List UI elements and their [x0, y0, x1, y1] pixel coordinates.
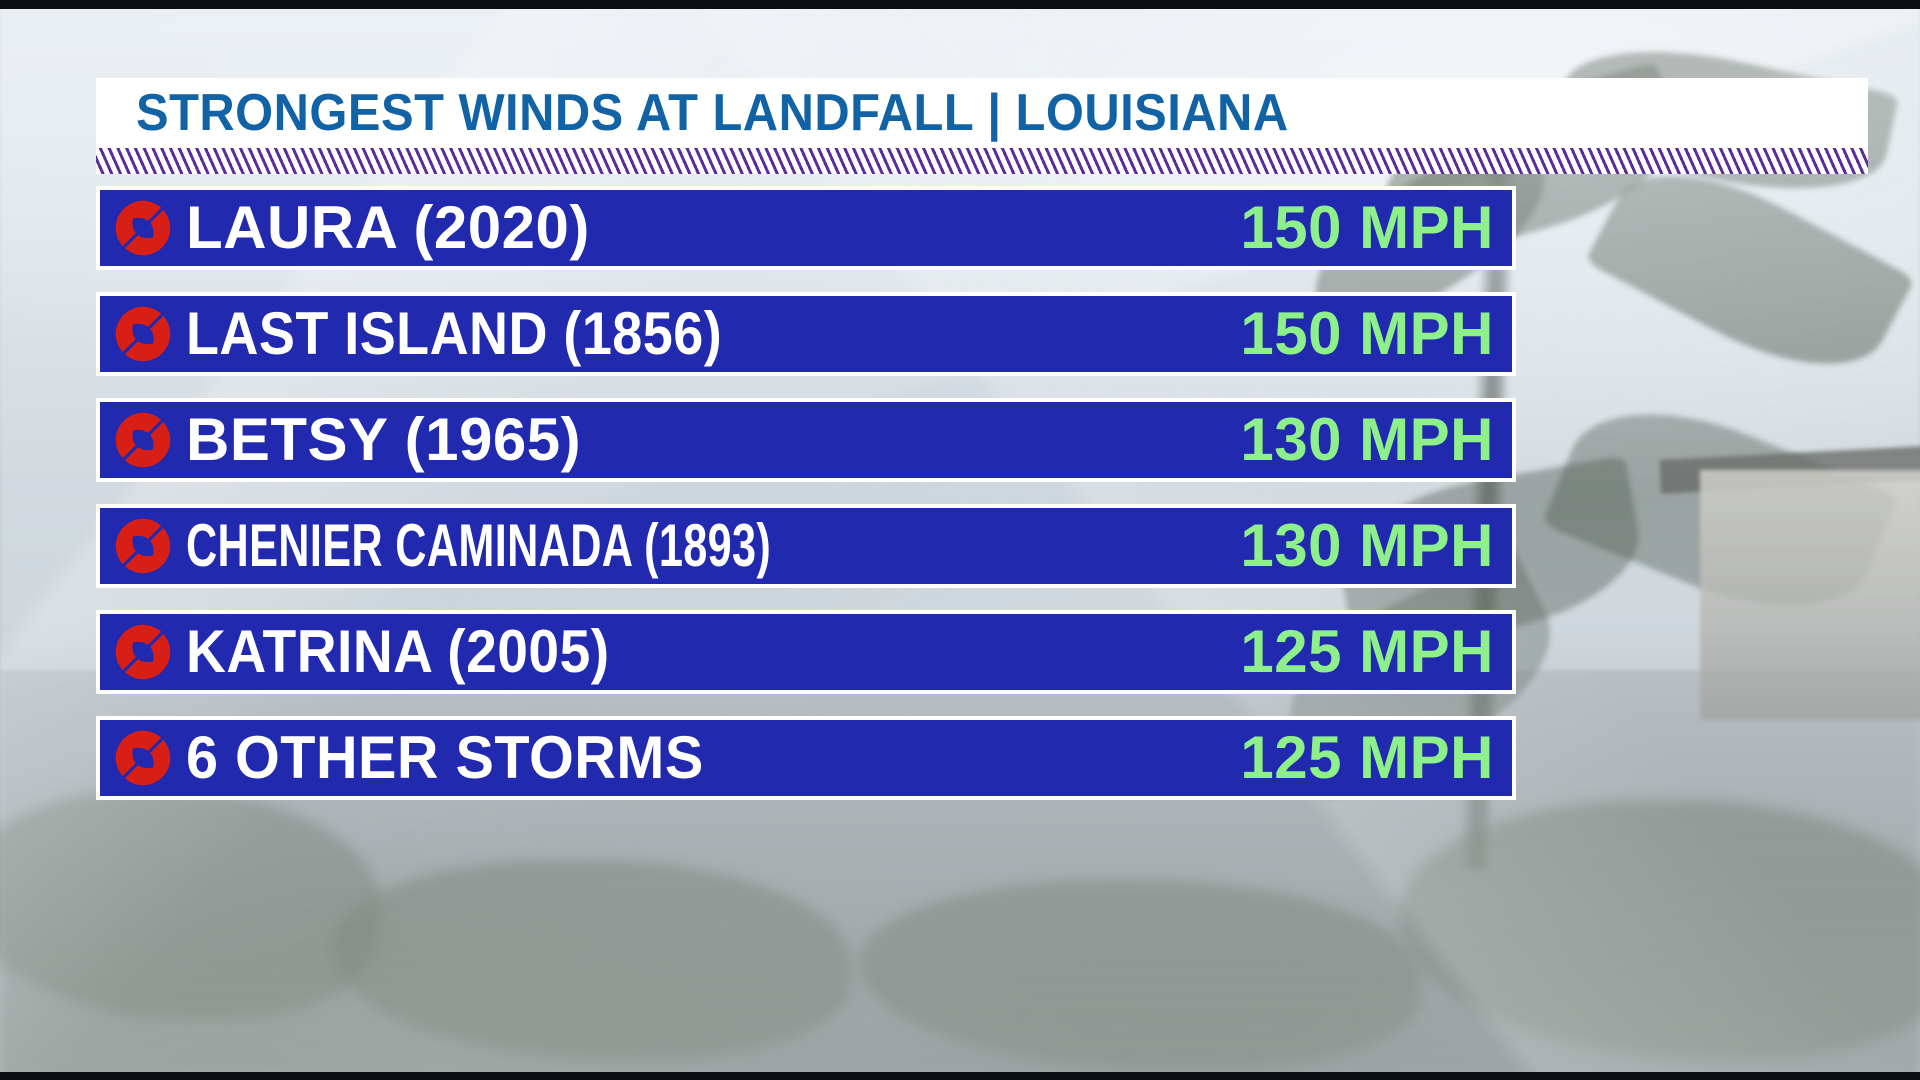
- hurricane-icon: [100, 292, 186, 376]
- wind-speed-value: 150 MPH: [1240, 198, 1512, 258]
- storm-name: KATRINA (2005): [186, 622, 1156, 682]
- storm-name: LAURA (2020): [186, 198, 1240, 258]
- hatch-divider: [96, 148, 1868, 174]
- storm-name: 6 OTHER STORMS: [186, 728, 1198, 788]
- weather-graphic: STRONGEST WINDS AT LANDFALL | LOUISIANA …: [0, 0, 1920, 1080]
- title-bar: STRONGEST WINDS AT LANDFALL | LOUISIANA: [96, 78, 1868, 148]
- wind-speed-value: 130 MPH: [1240, 516, 1512, 576]
- wind-speed-value: 125 MPH: [1240, 728, 1512, 788]
- list-item[interactable]: LAST ISLAND (1856) 150 MPH: [96, 292, 1516, 376]
- page-title: STRONGEST WINDS AT LANDFALL | LOUISIANA: [136, 87, 1289, 139]
- wind-speed-value: 130 MPH: [1240, 410, 1512, 470]
- wind-speed-value: 150 MPH: [1240, 304, 1512, 364]
- list-item[interactable]: CHENIER CAMINADA (1893) 130 MPH: [96, 504, 1516, 588]
- hurricane-icon: [100, 610, 186, 694]
- letterbox-top: [0, 0, 1920, 9]
- hurricane-icon: [100, 186, 186, 270]
- storm-name: BETSY (1965): [186, 410, 1240, 470]
- hurricane-icon: [100, 398, 186, 482]
- list-item[interactable]: LAURA (2020) 150 MPH: [96, 186, 1516, 270]
- list-item[interactable]: KATRINA (2005) 125 MPH: [96, 610, 1516, 694]
- wind-speed-value: 125 MPH: [1240, 622, 1512, 682]
- storm-name: LAST ISLAND (1856): [186, 304, 1135, 364]
- hurricane-icon: [100, 716, 186, 800]
- list-item[interactable]: BETSY (1965) 130 MPH: [96, 398, 1516, 482]
- storm-name: CHENIER CAMINADA (1893): [186, 516, 945, 576]
- storm-list: LAURA (2020) 150 MPH LAST ISLAND (1856) …: [96, 186, 1516, 822]
- letterbox-bottom: [0, 1072, 1920, 1080]
- hurricane-icon: [100, 504, 186, 588]
- list-item[interactable]: 6 OTHER STORMS 125 MPH: [96, 716, 1516, 800]
